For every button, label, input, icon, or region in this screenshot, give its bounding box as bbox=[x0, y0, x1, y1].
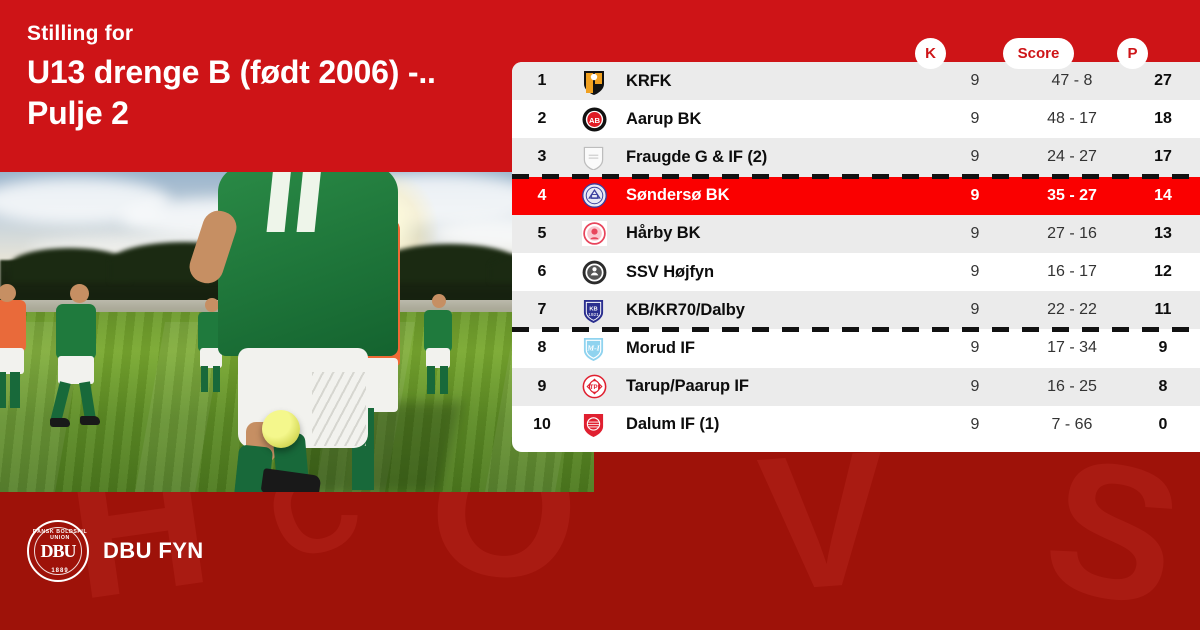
row-position: 8 bbox=[512, 339, 572, 357]
row-points: 0 bbox=[1126, 416, 1200, 434]
row-score: 47 - 8 bbox=[1018, 72, 1126, 90]
table-row[interactable]: 1 KRFK 9 47 - 8 27 bbox=[512, 62, 1200, 100]
row-position: 9 bbox=[512, 378, 572, 396]
svg-text:TPI: TPI bbox=[589, 384, 599, 391]
tarup-paarup-if-logo: TPI bbox=[572, 374, 616, 399]
table-row-highlighted[interactable]: 4 Søndersø BK 9 35 - 27 14 bbox=[512, 177, 1200, 215]
row-k: 9 bbox=[932, 72, 1018, 90]
row-position: 4 bbox=[512, 187, 572, 205]
fraugde-gif-logo bbox=[572, 145, 616, 170]
column-header-k[interactable]: K bbox=[915, 38, 946, 69]
seal-top-text: DANSK BOLDSPIL UNION bbox=[29, 529, 91, 541]
table-row[interactable]: 2 AB Aarup BK 9 48 - 17 18 bbox=[512, 100, 1200, 138]
row-score: 7 - 66 bbox=[1018, 416, 1126, 434]
ssv-hojfyn-logo bbox=[572, 260, 616, 285]
row-points: 18 bbox=[1126, 110, 1200, 128]
row-k: 9 bbox=[932, 187, 1018, 205]
svg-text:AB: AB bbox=[588, 116, 600, 125]
svg-text:M-I: M-I bbox=[586, 343, 600, 352]
table-row[interactable]: 8 M-I Morud IF 9 17 - 34 9 bbox=[512, 329, 1200, 367]
row-team: Fraugde G & IF (2) bbox=[616, 148, 932, 167]
row-score: 17 - 34 bbox=[1018, 339, 1126, 357]
footer: DANSK BOLDSPIL UNION DBU 1889 DBU FYN bbox=[0, 492, 1200, 630]
row-score: 16 - 25 bbox=[1018, 378, 1126, 396]
column-header-p[interactable]: P bbox=[1117, 38, 1148, 69]
row-points: 12 bbox=[1126, 263, 1200, 281]
row-team: Hårby BK bbox=[616, 224, 932, 243]
table-row[interactable]: 5 Hårby BK 9 27 - 16 13 bbox=[512, 215, 1200, 253]
krfk-logo bbox=[572, 69, 616, 94]
dbu-logo-icon: DANSK BOLDSPIL UNION DBU 1889 bbox=[27, 520, 89, 582]
row-points: 14 bbox=[1126, 187, 1200, 205]
row-points: 13 bbox=[1126, 225, 1200, 243]
row-score: 22 - 22 bbox=[1018, 301, 1126, 319]
row-team: Tarup/Paarup IF bbox=[616, 377, 932, 396]
row-score: 27 - 16 bbox=[1018, 225, 1126, 243]
qualification-separator bbox=[512, 174, 1200, 179]
row-team: KB/KR70/Dalby bbox=[616, 301, 932, 320]
seal-year: 1889 bbox=[29, 568, 91, 574]
row-points: 8 bbox=[1126, 378, 1200, 396]
row-position: 10 bbox=[512, 416, 572, 434]
row-k: 9 bbox=[932, 110, 1018, 128]
relegation-separator bbox=[512, 327, 1200, 332]
row-k: 9 bbox=[932, 225, 1018, 243]
row-position: 2 bbox=[512, 110, 572, 128]
haarby-bk-logo bbox=[572, 221, 616, 246]
row-score: 35 - 27 bbox=[1018, 187, 1126, 205]
row-points: 9 bbox=[1126, 339, 1200, 357]
row-team: Dalum IF (1) bbox=[616, 415, 932, 434]
row-position: 5 bbox=[512, 225, 572, 243]
table-row[interactable]: 7 KB1921 KB/KR70/Dalby 9 22 - 22 11 bbox=[512, 291, 1200, 329]
row-k: 9 bbox=[932, 301, 1018, 319]
row-position: 7 bbox=[512, 301, 572, 319]
table-row[interactable]: 6 SSV Højfyn 9 16 - 17 12 bbox=[512, 253, 1200, 291]
table-row[interactable]: 3 Fraugde G & IF (2) 9 24 - 27 17 bbox=[512, 138, 1200, 176]
football bbox=[262, 410, 300, 448]
table-row[interactable]: 9 TPI Tarup/Paarup IF 9 16 - 25 8 bbox=[512, 368, 1200, 406]
eyebrow-label: Stilling for bbox=[27, 22, 133, 46]
row-score: 16 - 17 bbox=[1018, 263, 1126, 281]
row-k: 9 bbox=[932, 378, 1018, 396]
row-score: 48 - 17 bbox=[1018, 110, 1126, 128]
morud-if-logo: M-I bbox=[572, 336, 616, 361]
football-match-photo bbox=[0, 172, 594, 492]
kb-kr70-dalby-logo: KB1921 bbox=[572, 298, 616, 323]
row-k: 9 bbox=[932, 339, 1018, 357]
row-k: 9 bbox=[932, 148, 1018, 166]
row-position: 3 bbox=[512, 148, 572, 166]
standings-table: 1 KRFK 9 47 - 8 27 2 AB Aarup BK 9 48 - … bbox=[512, 62, 1200, 452]
row-k: 9 bbox=[932, 416, 1018, 434]
row-score: 24 - 27 bbox=[1018, 148, 1126, 166]
row-k: 9 bbox=[932, 263, 1018, 281]
aarup-bk-logo: AB bbox=[572, 107, 616, 132]
row-points: 11 bbox=[1126, 301, 1200, 319]
row-team: Aarup BK bbox=[616, 110, 932, 129]
row-points: 17 bbox=[1126, 148, 1200, 166]
organisation-name: DBU FYN bbox=[103, 538, 204, 564]
row-team: KRFK bbox=[616, 72, 932, 91]
row-team: Søndersø BK bbox=[616, 186, 932, 205]
row-position: 6 bbox=[512, 263, 572, 281]
svg-text:1921: 1921 bbox=[588, 312, 599, 318]
dalum-if-logo bbox=[572, 412, 616, 437]
shorts-trim bbox=[312, 372, 366, 446]
row-team: SSV Højfyn bbox=[616, 263, 932, 282]
table-row[interactable]: 10 Dalum IF (1) 9 7 - 66 0 bbox=[512, 406, 1200, 444]
page-title: U13 drenge B (født 2006) -.. Pulje 2 bbox=[27, 52, 497, 134]
row-position: 1 bbox=[512, 72, 572, 90]
seal-monogram: DBU bbox=[40, 541, 75, 562]
svg-text:KB: KB bbox=[589, 306, 597, 312]
row-points: 27 bbox=[1126, 72, 1200, 90]
row-team: Morud IF bbox=[616, 339, 932, 358]
column-header-score[interactable]: Score bbox=[1003, 38, 1074, 69]
sondersoe-bk-logo bbox=[572, 183, 616, 208]
